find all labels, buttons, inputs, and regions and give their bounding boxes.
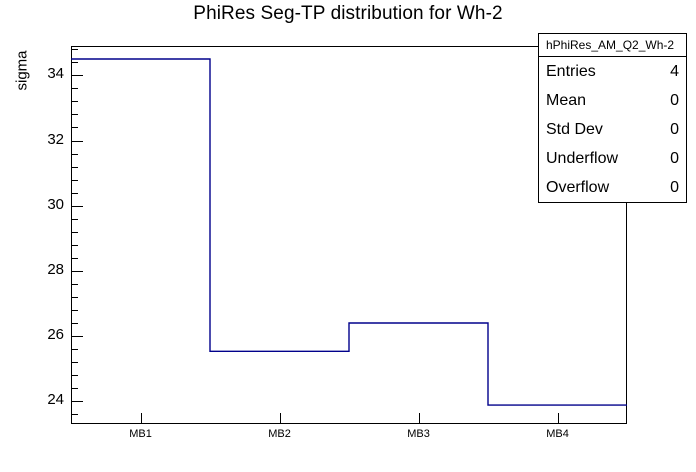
- y-tick-minor: [72, 232, 78, 233]
- statistics-row: Entries4: [539, 57, 686, 86]
- statistics-row: Std Dev0: [539, 115, 686, 144]
- y-tick-major: [72, 401, 83, 402]
- y-tick-minor: [72, 245, 78, 246]
- y-tick-minor: [72, 375, 78, 376]
- statistics-value: 0: [670, 173, 679, 202]
- statistics-box[interactable]: hPhiRes_AM_Q2_Wh-2 Entries4Mean0Std Dev0…: [538, 33, 687, 203]
- y-tick-minor: [72, 167, 78, 168]
- statistics-key: Mean: [546, 86, 586, 115]
- y-tick-label: 30: [30, 196, 64, 213]
- statistics-row: Mean0: [539, 86, 686, 115]
- statistics-key: Underflow: [546, 144, 618, 173]
- y-tick-minor: [72, 362, 78, 363]
- y-tick-major: [72, 271, 83, 272]
- statistics-row: Underflow0: [539, 144, 686, 173]
- statistics-key: Overflow: [546, 173, 609, 202]
- y-tick-minor: [72, 323, 78, 324]
- y-tick-major: [72, 336, 83, 337]
- statistics-rows: Entries4Mean0Std Dev0Underflow0Overflow0: [539, 57, 686, 202]
- y-tick-minor: [72, 297, 78, 298]
- statistics-key: Std Dev: [546, 115, 603, 144]
- y-tick-minor: [72, 49, 78, 50]
- x-tick: [419, 413, 420, 424]
- y-tick-minor: [72, 258, 78, 259]
- statistics-value: 0: [670, 115, 679, 144]
- y-tick-minor: [72, 114, 78, 115]
- y-tick-minor: [72, 388, 78, 389]
- statistics-key: Entries: [546, 57, 596, 86]
- y-tick-minor: [72, 88, 78, 89]
- y-tick-label: 26: [30, 326, 64, 343]
- root-canvas: PhiRes Seg-TP distribution for Wh-2 sigm…: [0, 0, 696, 472]
- statistics-value: 4: [670, 57, 679, 86]
- y-tick-label: 34: [30, 65, 64, 82]
- y-tick-minor: [72, 310, 78, 311]
- y-tick-major: [72, 141, 83, 142]
- x-tick-label-mb1: MB1: [111, 428, 171, 440]
- y-tick-minor: [72, 127, 78, 128]
- y-tick-minor: [72, 284, 78, 285]
- statistics-box-title: hPhiRes_AM_Q2_Wh-2: [539, 34, 686, 57]
- y-tick-minor: [72, 414, 78, 415]
- x-tick: [280, 413, 281, 424]
- statistics-row: Overflow0: [539, 173, 686, 202]
- y-tick-minor: [72, 101, 78, 102]
- y-tick-major: [72, 206, 83, 207]
- y-tick-minor: [72, 219, 78, 220]
- y-tick-major: [72, 75, 83, 76]
- statistics-value: 0: [670, 86, 679, 115]
- statistics-value: 0: [670, 144, 679, 173]
- y-tick-minor: [72, 154, 78, 155]
- y-axis-title: sigma: [14, 41, 31, 101]
- y-tick-minor: [72, 62, 78, 63]
- y-tick-label: 28: [30, 261, 64, 278]
- x-tick-label-mb3: MB3: [389, 428, 449, 440]
- y-tick-minor: [72, 193, 78, 194]
- y-tick-label: 32: [30, 131, 64, 148]
- y-tick-label: 24: [30, 391, 64, 408]
- y-tick-minor: [72, 180, 78, 181]
- x-tick-label-mb2: MB2: [250, 428, 310, 440]
- x-tick-label-mb4: MB4: [528, 428, 588, 440]
- x-tick: [141, 413, 142, 424]
- y-tick-minor: [72, 349, 78, 350]
- x-tick: [558, 413, 559, 424]
- page-title: PhiRes Seg-TP distribution for Wh-2: [0, 3, 696, 25]
